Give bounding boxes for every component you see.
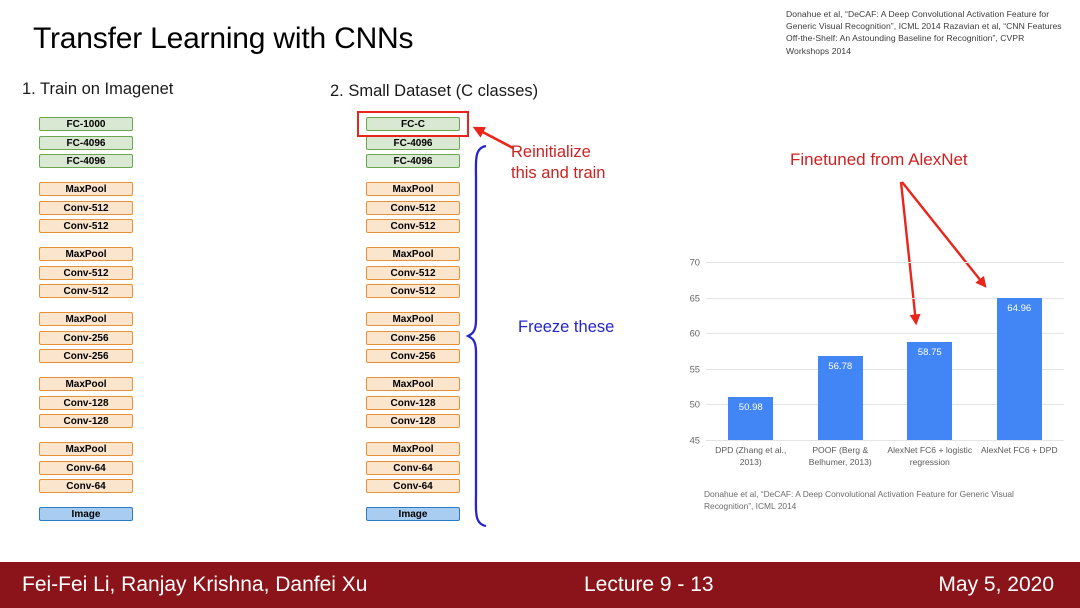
bar-value-label: 56.78 <box>818 361 863 372</box>
layer-box: Conv-512 <box>39 284 133 298</box>
layer-box: Conv-512 <box>366 266 460 280</box>
y-axis-tick: 70 <box>674 257 700 268</box>
layer-box: MaxPool <box>39 442 133 456</box>
footer-authors: Fei-Fei Li, Ranjay Krishna, Danfei Xu <box>22 573 368 597</box>
layer-box: MaxPool <box>366 182 460 196</box>
x-axis-category-label: AlexNet FC6 + logistic regression <box>887 445 973 468</box>
layer-box: MaxPool <box>39 377 133 391</box>
layer-box: Conv-512 <box>366 219 460 233</box>
slide-footer: Fei-Fei Li, Ranjay Krishna, Danfei Xu Le… <box>0 559 1080 608</box>
layer-box: Conv-64 <box>366 479 460 493</box>
gridline <box>706 262 1064 263</box>
x-axis-category-label: DPD (Zhang et al., 2013) <box>708 445 794 468</box>
layer-box: MaxPool <box>39 247 133 261</box>
layer-box: Conv-128 <box>366 414 460 428</box>
layer-box: Image <box>366 507 460 521</box>
bar: 50.98 <box>728 397 773 440</box>
layer-box: Conv-256 <box>39 349 133 363</box>
finetuned-title: Finetuned from AlexNet <box>790 150 968 170</box>
layer-box: Conv-256 <box>366 331 460 345</box>
layer-box: FC-4096 <box>39 136 133 150</box>
bar: 58.75 <box>907 342 952 440</box>
column-heading-small-dataset: 2. Small Dataset (C classes) <box>330 82 538 101</box>
layer-box: Conv-256 <box>366 349 460 363</box>
y-axis-tick: 60 <box>674 328 700 339</box>
x-axis-category-label: POOF (Berg & Belhumer, 2013) <box>798 445 884 468</box>
freeze-annotation: Freeze these <box>518 318 614 337</box>
footer-lecture-number: Lecture 9 - 13 <box>584 573 714 597</box>
y-axis-tick: 45 <box>674 435 700 446</box>
y-axis-tick: 55 <box>674 363 700 374</box>
bar-value-label: 50.98 <box>728 402 773 413</box>
slide: Donahue et al, “DeCAF: A Deep Convolutio… <box>0 0 1080 608</box>
layer-box: MaxPool <box>39 312 133 326</box>
layer-box: FC-4096 <box>366 136 460 150</box>
layer-box: Conv-512 <box>366 284 460 298</box>
layer-box: MaxPool <box>366 247 460 261</box>
layer-box: Conv-64 <box>366 461 460 475</box>
column-heading-train-imagenet: 1. Train on Imagenet <box>22 80 173 99</box>
bar-chart: 45505560657050.98DPD (Zhang et al., 2013… <box>672 252 1064 492</box>
layer-box: FC-1000 <box>39 117 133 131</box>
network-stack-imagenet: FC-1000FC-4096FC-4096MaxPoolConv-512Conv… <box>39 117 133 526</box>
layer-box: MaxPool <box>366 312 460 326</box>
layer-box: Conv-128 <box>39 414 133 428</box>
top-citation: Donahue et al, “DeCAF: A Deep Convolutio… <box>786 8 1068 57</box>
reinitialize-annotation: Reinitialize this and train <box>511 142 605 184</box>
network-stack-small-dataset: FC-CFC-4096FC-4096MaxPoolConv-512Conv-51… <box>366 117 460 526</box>
y-axis-tick: 50 <box>674 399 700 410</box>
layer-box: Conv-512 <box>366 201 460 215</box>
footer-date: May 5, 2020 <box>938 573 1054 597</box>
chart-caption: Donahue et al, “DeCAF: A Deep Convolutio… <box>704 488 1054 512</box>
layer-box: Conv-512 <box>39 219 133 233</box>
layer-box: MaxPool <box>366 442 460 456</box>
page-title: Transfer Learning with CNNs <box>33 22 413 56</box>
layer-box: Conv-128 <box>39 396 133 410</box>
y-axis-tick: 65 <box>674 292 700 303</box>
layer-box: Conv-256 <box>39 331 133 345</box>
layer-box: Conv-512 <box>39 266 133 280</box>
layer-box: FC-4096 <box>366 154 460 168</box>
fcc-highlight-box <box>357 111 469 137</box>
bar-value-label: 64.96 <box>997 303 1042 314</box>
layer-box: MaxPool <box>39 182 133 196</box>
bar: 56.78 <box>818 356 863 440</box>
freeze-brace <box>466 144 506 544</box>
x-axis-category-label: AlexNet FC6 + DPD <box>977 445 1063 457</box>
layer-box: Conv-64 <box>39 479 133 493</box>
layer-box: Conv-128 <box>366 396 460 410</box>
layer-box: MaxPool <box>366 377 460 391</box>
reinitialize-line-2: this and train <box>511 163 605 184</box>
reinitialize-line-1: Reinitialize <box>511 142 605 163</box>
layer-box: Image <box>39 507 133 521</box>
bar: 64.96 <box>997 298 1042 440</box>
bar-value-label: 58.75 <box>907 347 952 358</box>
layer-box: Conv-64 <box>39 461 133 475</box>
gridline <box>706 440 1064 441</box>
layer-box: Conv-512 <box>39 201 133 215</box>
layer-box: FC-4096 <box>39 154 133 168</box>
